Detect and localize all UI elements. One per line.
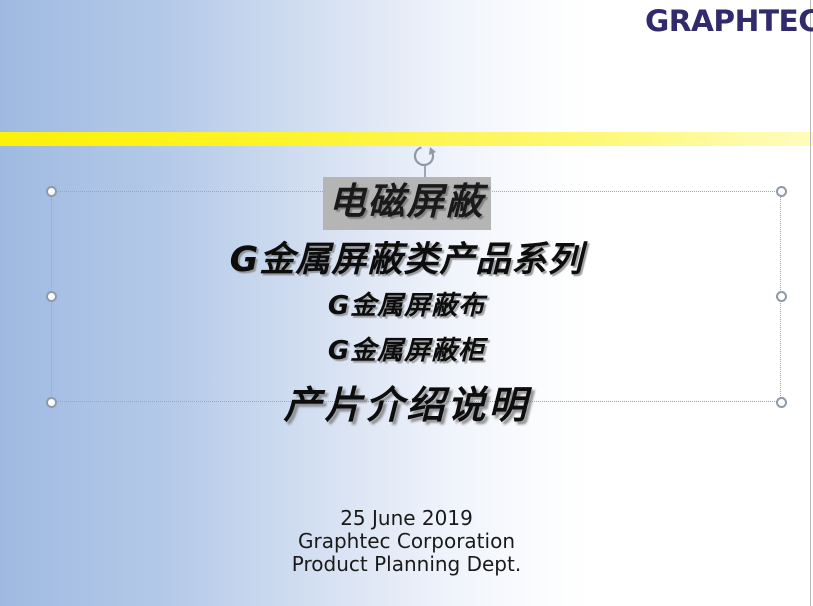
title-line-1[interactable]: G金属屏蔽类产品系列 [0,231,813,282]
accent-band [0,132,813,146]
presentation-slide: GRAPHTEC 电磁屏蔽 G金属屏蔽类产品系列 G金属屏蔽布 G金属屏蔽柜 产… [0,0,813,606]
title-line-3[interactable]: G金属屏蔽柜 [0,330,813,367]
graphtec-logo: GRAPHTEC [645,4,813,38]
selected-text[interactable]: 电磁屏蔽 [323,177,491,230]
rotate-handle-icon[interactable] [411,143,439,171]
title-line-2[interactable]: G金属屏蔽布 [0,285,813,322]
footer-date: 25 June 2019 [0,507,813,530]
footer-department: Product Planning Dept. [0,553,813,576]
footer-company: Graphtec Corporation [0,530,813,553]
title-line-4[interactable]: 产片介绍说明 [0,374,813,429]
selected-text-line[interactable]: 电磁屏蔽 [0,171,813,225]
slide-footer: 25 June 2019 Graphtec Corporation Produc… [0,507,813,576]
